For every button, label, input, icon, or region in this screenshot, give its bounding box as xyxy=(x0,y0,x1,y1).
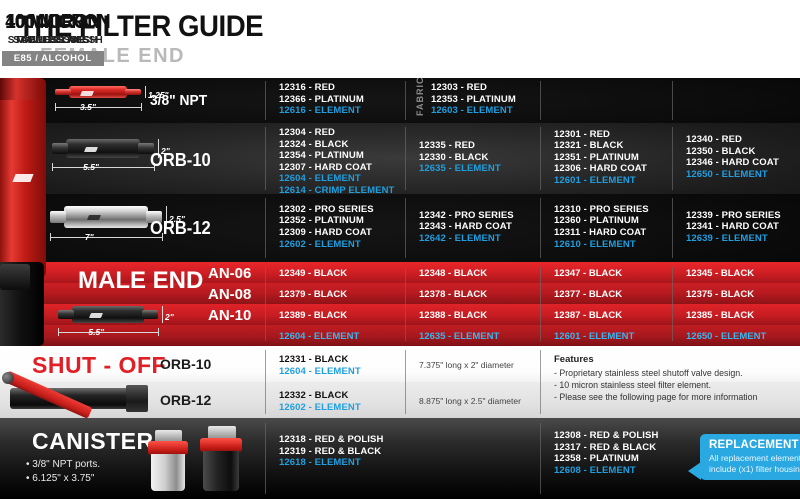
part-number: 12343 - HARD COAT xyxy=(419,221,540,233)
shutoff-dimension-note: 8.875" long x 2.5" diameter xyxy=(419,396,521,406)
part-number: 12341 - HARD COAT xyxy=(686,221,800,233)
callout-body-line: include (x1) filter housing o-ring xyxy=(709,464,800,475)
part-number: 12346 - HARD COAT xyxy=(686,157,800,169)
part-number-list: 12335 - RED12330 - BLACK12635 - ELEMENT xyxy=(405,140,540,175)
part-number: 12310 - PRO SERIES xyxy=(554,204,672,216)
part-number: 12379 - BLACK xyxy=(279,289,347,300)
part-number-list: 12340 - RED12350 - BLACK12346 - HARD COA… xyxy=(672,134,800,180)
part-number: 12347 - BLACK xyxy=(554,268,622,279)
male-end-band xyxy=(0,325,800,346)
canister-product-image xyxy=(148,430,188,492)
callout-body-line: All replacement elements xyxy=(709,453,800,464)
part-number: 12301 - RED xyxy=(554,129,672,141)
element-part-number: 12604 - ELEMENT xyxy=(279,366,405,378)
element-part-number: 12601 - ELEMENT xyxy=(554,175,672,187)
part-number: 12389 - BLACK xyxy=(279,310,347,321)
features-title: Features xyxy=(554,354,757,365)
part-number: 12330 - BLACK xyxy=(419,152,540,164)
part-number: 12339 - PRO SERIES xyxy=(686,210,800,222)
male-end-section: MALE END5.5"2"AN-06AN-08AN-1012349 - BLA… xyxy=(0,262,800,346)
canister-specs: • 3/8" NPT ports.• 6.125" x 3.75" xyxy=(26,458,100,486)
part-number: 12318 - RED & POLISH xyxy=(279,434,405,446)
table-cell: 12316 - RED12366 - PLATINUM12616 - ELEME… xyxy=(265,78,405,123)
part-number: 12375 - BLACK xyxy=(686,289,754,300)
part-number: 12306 - HARD COAT xyxy=(554,163,672,175)
element-part-number: 12650 - ELEMENT xyxy=(686,331,766,342)
part-number: 12319 - RED & BLACK xyxy=(279,446,405,458)
part-number: 12303 - RED xyxy=(431,82,540,94)
part-number-list: 12308 - RED & POLISH12317 - RED & BLACK1… xyxy=(540,430,672,476)
part-number: 12316 - RED xyxy=(279,82,405,94)
part-number-list: 12316 - RED12366 - PLATINUM12616 - ELEME… xyxy=(265,82,405,117)
shutoff-size-orb-10: ORB-10 xyxy=(160,356,211,372)
column-divider xyxy=(540,267,541,341)
filter-guide-page: THE FILTER GUIDE FEMALE END 100 MICRON S… xyxy=(0,0,800,499)
part-number: 12311 - HARD COAT xyxy=(554,227,672,239)
part-number-list: 12301 - RED12321 - BLACK12351 - PLATINUM… xyxy=(540,129,672,187)
fabric-tag-label: FABRIC xyxy=(415,86,425,116)
table-row: 3.5"1.25"3/8" NPT12316 - RED12366 - PLAT… xyxy=(0,78,800,123)
element-part-number: 12639 - ELEMENT xyxy=(686,233,800,245)
filter-table: 3.5"1.25"3/8" NPT12316 - RED12366 - PLAT… xyxy=(0,78,800,499)
shutoff-section: SHUT - OFFORB-1012331 - BLACK12604 - ELE… xyxy=(0,346,800,418)
element-part-number: 12642 - ELEMENT xyxy=(419,233,540,245)
row-label-orb-10: ORB-10 xyxy=(150,150,211,171)
part-number: 12342 - PRO SERIES xyxy=(419,210,540,222)
element-part-number: 12608 - ELEMENT xyxy=(554,465,672,477)
column-divider xyxy=(540,350,541,413)
features-box: Features- Proprietary stainless steel sh… xyxy=(554,354,757,403)
part-number: 12307 - HARD COAT xyxy=(279,162,405,174)
replacement-elements-callout: REPLACEMENT ELEMENTSAll replacement elem… xyxy=(700,434,800,480)
canister-spec-item: • 6.125" x 3.75" xyxy=(26,472,100,486)
male-end-heading: MALE END xyxy=(78,267,203,295)
aeromotive-logo-icon xyxy=(87,215,101,220)
table-cell: 12304 - RED12324 - BLACK12354 - PLATINUM… xyxy=(265,123,405,194)
part-number-list: 12304 - RED12324 - BLACK12354 - PLATINUM… xyxy=(265,127,405,194)
part-number: 12387 - BLACK xyxy=(554,310,622,321)
part-number: 12353 - PLATINUM xyxy=(431,94,540,106)
table-cell: 12301 - RED12321 - BLACK12351 - PLATINUM… xyxy=(540,123,672,194)
part-number: 12385 - BLACK xyxy=(686,310,754,321)
element-part-number: 12618 - ELEMENT xyxy=(279,457,405,469)
part-number-list: 12318 - RED & POLISH12319 - RED & BLACK1… xyxy=(265,434,405,469)
part-number: 12352 - PLATINUM xyxy=(279,215,405,227)
column-divider xyxy=(540,81,541,121)
aeromotive-logo-icon xyxy=(84,147,98,152)
table-cell: 12302 - PRO SERIES12352 - PLATINUM12309 … xyxy=(265,194,405,262)
part-number: 12345 - BLACK xyxy=(686,268,754,279)
aeromotive-logo-icon xyxy=(80,91,94,96)
part-number: 12302 - PRO SERIES xyxy=(279,204,405,216)
shutoff-size-orb-12: ORB-12 xyxy=(160,392,211,408)
element-part-number: 12635 - ELEMENT xyxy=(419,331,499,342)
column-header-10-micron-micro-glass: 10 MICRON MICRO GLASS E85 / ALCOHOL xyxy=(0,12,105,66)
part-number: 12340 - RED xyxy=(686,134,800,146)
part-number: 12366 - PLATINUM xyxy=(279,94,405,106)
male-end-size-an-08: AN-08 xyxy=(208,286,251,303)
canister-spec-item: • 3/8" NPT ports. xyxy=(26,458,100,472)
callout-title: REPLACEMENT ELEMENTS xyxy=(709,439,800,451)
part-number: 12358 - PLATINUM xyxy=(554,453,672,465)
fuel-badge: E85 / ALCOHOL xyxy=(2,51,104,66)
feature-item: - Please see the following page for more… xyxy=(554,391,757,403)
canister-section: CANISTER• 3/8" NPT ports.• 6.125" x 3.75… xyxy=(0,418,800,499)
dimension-length-label: 5.5" xyxy=(80,162,102,172)
part-number: 12324 - BLACK xyxy=(279,139,405,151)
part-number-list: 12332 - BLACK12602 - ELEMENT xyxy=(265,390,405,413)
dimension-length-label: 3.5" xyxy=(77,102,99,112)
element-part-number: 12604 - ELEMENT xyxy=(279,173,405,185)
part-number: 12309 - HARD COAT xyxy=(279,227,405,239)
element-part-number: 12601 - ELEMENT xyxy=(554,331,634,342)
part-number: 12348 - BLACK xyxy=(419,268,487,279)
table-cell: 12342 - PRO SERIES12343 - HARD COAT12642… xyxy=(405,194,540,262)
canister-product-image xyxy=(200,426,242,492)
part-number: 12321 - BLACK xyxy=(554,140,672,152)
dimension-length-label: 7" xyxy=(82,232,97,242)
table-cell: 12335 - RED12330 - BLACK12635 - ELEMENT xyxy=(405,123,540,194)
table-row: 5.5"2"ORB-1012304 - RED12324 - BLACK1235… xyxy=(0,123,800,194)
part-number: 12360 - PLATINUM xyxy=(554,215,672,227)
male-end-size-an-06: AN-06 xyxy=(208,265,251,282)
part-number-list: 12303 - RED12353 - PLATINUM12603 - ELEME… xyxy=(405,82,540,117)
table-cell: 12339 - PRO SERIES12341 - HARD COAT12639… xyxy=(672,194,800,262)
table-cell: 12310 - PRO SERIES12360 - PLATINUM12311 … xyxy=(540,194,672,262)
page-header: THE FILTER GUIDE FEMALE END 100 MICRON S… xyxy=(0,0,800,78)
canister-heading: CANISTER xyxy=(32,428,154,455)
part-number-list: 12302 - PRO SERIES12352 - PLATINUM12309 … xyxy=(265,204,405,250)
shutoff-heading: SHUT - OFF xyxy=(32,352,166,379)
part-number: 12354 - PLATINUM xyxy=(279,150,405,162)
part-number: 12377 - BLACK xyxy=(554,289,622,300)
part-number-list: 12310 - PRO SERIES12360 - PLATINUM12311 … xyxy=(540,204,672,250)
part-number-list: 12339 - PRO SERIES12341 - HARD COAT12639… xyxy=(672,210,800,245)
column-divider xyxy=(265,267,266,341)
element-part-number: 12603 - ELEMENT xyxy=(431,105,540,117)
part-number: 12388 - BLACK xyxy=(419,310,487,321)
male-end-band xyxy=(0,304,800,325)
part-number: 12378 - BLACK xyxy=(419,289,487,300)
row-label-orb-12: ORB-12 xyxy=(150,218,211,239)
element-part-number: 12604 - ELEMENT xyxy=(279,331,359,342)
part-number-list: 12342 - PRO SERIES12343 - HARD COAT12642… xyxy=(405,210,540,245)
feature-item: - Proprietary stainless steel shutoff va… xyxy=(554,367,757,379)
part-number: 12350 - BLACK xyxy=(686,146,800,158)
element-part-number: 12614 - CRIMP ELEMENT xyxy=(279,185,405,194)
row-label-3-8-npt: 3/8" NPT xyxy=(150,92,207,109)
shutoff-dimension-note: 7.375" long x 2" diameter xyxy=(419,360,514,370)
column-divider xyxy=(405,267,406,341)
part-number: 12349 - BLACK xyxy=(279,268,347,279)
part-number: 12332 - BLACK xyxy=(279,390,405,402)
element-part-number: 12602 - ELEMENT xyxy=(279,402,405,414)
element-part-number: 12635 - ELEMENT xyxy=(419,163,540,175)
part-number: 12331 - BLACK xyxy=(279,354,405,366)
male-end-size-an-10: AN-10 xyxy=(208,307,251,324)
part-number: 12317 - RED & BLACK xyxy=(554,442,672,454)
feature-item: - 10 micron stainless steel filter eleme… xyxy=(554,379,757,391)
table-row: 7"2.5"ORB-1212302 - PRO SERIES12352 - PL… xyxy=(0,194,800,262)
element-part-number: 12650 - ELEMENT xyxy=(686,169,800,181)
part-number-list: 12331 - BLACK12604 - ELEMENT xyxy=(265,354,405,377)
table-cell: 12303 - RED12353 - PLATINUM12603 - ELEME… xyxy=(405,78,540,123)
part-number: 12335 - RED xyxy=(419,140,540,152)
element-part-number: 12602 - ELEMENT xyxy=(279,239,405,251)
element-part-number: 12616 - ELEMENT xyxy=(279,105,405,117)
part-number: 12308 - RED & POLISH xyxy=(554,430,672,442)
column-divider xyxy=(672,81,673,121)
element-part-number: 12610 - ELEMENT xyxy=(554,239,672,251)
column-divider xyxy=(672,267,673,341)
part-number: 12304 - RED xyxy=(279,127,405,139)
part-number: 12351 - PLATINUM xyxy=(554,152,672,164)
table-cell: 12340 - RED12350 - BLACK12346 - HARD COA… xyxy=(672,123,800,194)
column-divider xyxy=(405,350,406,413)
